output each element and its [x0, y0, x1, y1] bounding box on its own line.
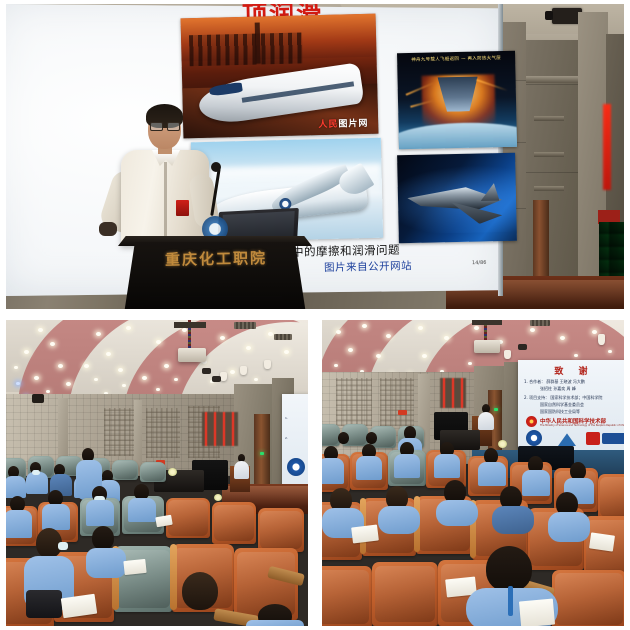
mountain-logo-icon: [558, 432, 576, 446]
cas-logo-icon: [526, 430, 542, 446]
podium-base: [138, 296, 294, 309]
slide-line-4: 国家自然科学基金委员会: [540, 402, 584, 408]
projector-mount: [174, 322, 206, 328]
capsule-overlay-text: 神舟九号载人飞船返回 — 再入防热大气层: [402, 55, 511, 63]
slide-image-hypersonic-aircraft: [397, 153, 517, 243]
slide-line-5: 国家国防科技工业局等: [540, 409, 580, 415]
speaker-hand: [99, 222, 117, 236]
acknowledgement-slide: 致 谢 1. 合作者： 薛群基 王晓波 冯大鹏 张招柱 孙嘉奕 周 峰 2. 项…: [518, 360, 624, 450]
slide-line-1: 1. 合作者： 薛群基 王晓波 冯大鹏: [524, 379, 585, 385]
speaker-glasses-icon: [150, 122, 179, 130]
ceiling-projector: [178, 348, 206, 362]
stage-speaker-body-br: [478, 412, 494, 430]
slide-line-2: 张招柱 孙嘉奕 周 峰: [540, 386, 576, 392]
red-wall-fins-br: [440, 378, 466, 408]
slide-page-number: 14/86: [472, 260, 487, 266]
side-door: [533, 200, 549, 284]
wall-speaker-icon: [32, 394, 44, 403]
red-logo-icon: [586, 432, 600, 445]
ceiling-projector-br: [474, 340, 500, 353]
green-indicator-led: [260, 452, 264, 455]
stage-screen-bl: 1. 2.: [282, 394, 308, 492]
wall-ledge-4: [534, 186, 564, 191]
defense-logo-icon: [602, 433, 624, 444]
panel-top-speaker: 顶润滑 人民图片网 神舟九号载人飞船返回 — 再入防热大气层: [6, 4, 624, 309]
audience-head-front-2: [182, 572, 218, 610]
photo-collage: 顶润滑 人民图片网 神舟九号载人飞船返回 — 再入防热大气层: [0, 0, 630, 630]
wall-ledge-3: [534, 152, 564, 157]
train-watermark: 人民图片网: [318, 116, 368, 130]
panel-bottom-left-audience: 1. 2.: [6, 320, 308, 626]
lanyard: [508, 586, 513, 616]
stage-side-door: [254, 414, 270, 484]
red-wall-fins: [202, 412, 238, 446]
red-accent-light: [603, 104, 611, 190]
slide-line-3: 2. 项目支持： 国家科学技术部；中国科学院: [524, 395, 602, 401]
national-emblem-icon: [526, 416, 537, 427]
slide-image-high-speed-train: 人民图片网: [181, 14, 379, 139]
speaker-shirt-placket: [164, 162, 167, 242]
ceiling-vent-1: [234, 322, 256, 329]
speaker-name-badge: [176, 200, 189, 216]
slide-banner-sub: The Ministry of Science and Technology o…: [540, 424, 624, 427]
stage-speaker-body: [234, 461, 249, 479]
panel-bottom-right-audience: 致 谢 1. 合作者： 薛群基 王晓波 冯大鹏 张招柱 孙嘉奕 周 峰 2. 项…: [322, 320, 624, 626]
projection-screen-edge: [498, 4, 503, 296]
wall-ledge-1: [526, 76, 578, 83]
microphone-head-icon: [211, 162, 221, 172]
flower-arrangement-2: [214, 494, 222, 501]
slide-title-zhixie: 致 谢: [518, 364, 624, 377]
ceiling-vent-2: [274, 334, 292, 340]
podium-inscription: 重庆化工职院: [158, 247, 274, 270]
wall-ledge-2: [534, 116, 564, 121]
flower-arrangement-1: [168, 468, 177, 476]
slide-image-reentry-capsule: 神舟九号载人飞船返回 — 再入防热大气层: [397, 51, 517, 149]
wall-grid-2: [146, 408, 180, 458]
